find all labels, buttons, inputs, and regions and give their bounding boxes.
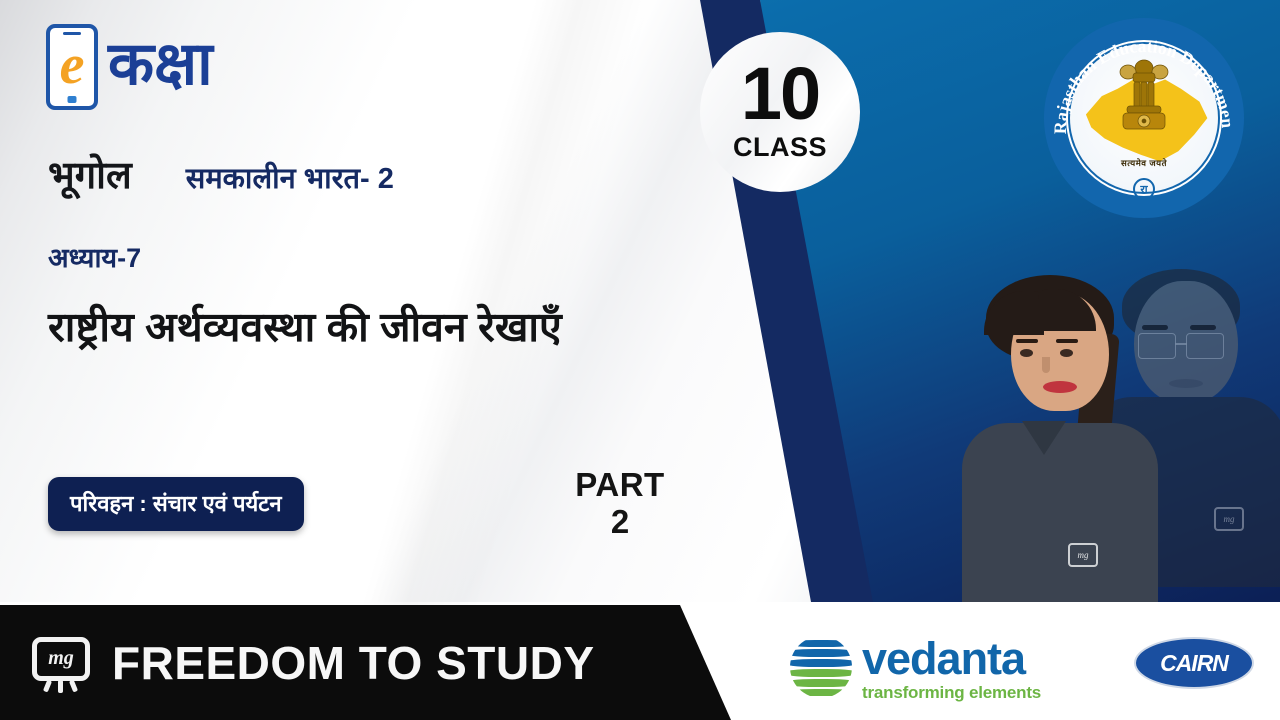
- class-number: 10: [741, 61, 819, 128]
- subject-name: भूगोल: [48, 148, 132, 200]
- seal-ring-text-path: Rajasthan Education Department: [1044, 18, 1238, 134]
- mg-board: mg: [32, 637, 90, 681]
- svg-text:Rajasthan Education Department: Rajasthan Education Department: [1044, 18, 1238, 134]
- cairn-logo: CAIRN: [1134, 637, 1254, 689]
- part-indicator: PART 2: [560, 468, 680, 541]
- logo-wordmark: कक्षा: [108, 34, 213, 94]
- vedanta-logo: vedanta transforming elements: [790, 634, 1041, 703]
- part-number: 2: [560, 503, 680, 541]
- mg-monogram: mg: [48, 647, 74, 670]
- slide-canvas: 10 CLASS सत्यमेव जयते रा: [0, 0, 1280, 720]
- mg-shirt-logo-icon: [1214, 507, 1244, 531]
- subject-row: भूगोल समकालीन भारत- 2: [48, 148, 394, 200]
- book-name: समकालीन भारत- 2: [186, 158, 394, 197]
- class-label: CLASS: [733, 132, 827, 163]
- rajasthan-education-department-seal: सत्यमेव जयते रा Rajasthan Education Depa…: [1044, 18, 1244, 218]
- mg-shirt-logo-icon: [1068, 543, 1098, 567]
- footer-bar: mg FREEDOM TO STUDY: [0, 605, 745, 720]
- lesson-title: राष्ट्रीय अर्थव्यवस्था की जीवन रेखाएँ: [48, 300, 608, 354]
- cairn-name: CAIRN: [1160, 650, 1228, 677]
- vedanta-text: vedanta transforming elements: [862, 638, 1041, 703]
- seal-ring-text: Rajasthan Education Department: [1044, 18, 1244, 218]
- vedanta-name: vedanta: [862, 638, 1041, 681]
- presenter-video-area: [950, 236, 1280, 605]
- presenter-female: [960, 275, 1160, 605]
- chapter-label: अध्याय-7: [48, 238, 141, 275]
- vedanta-tagline: transforming elements: [862, 683, 1041, 703]
- ekaksha-logo[interactable]: e कक्षा: [46, 24, 213, 110]
- part-label: PART: [560, 468, 680, 503]
- footer-tagline: FREEDOM TO STUDY: [112, 636, 595, 690]
- phone-outline-icon: e: [46, 24, 98, 110]
- mg-easel-logo-icon: mg: [28, 633, 94, 693]
- class-badge: 10 CLASS: [700, 32, 860, 192]
- logo-letter-e: e: [60, 37, 85, 93]
- vedanta-globe-icon: [790, 636, 852, 698]
- topic-badge: परिवहन : संचार एवं पर्यटन: [48, 477, 304, 531]
